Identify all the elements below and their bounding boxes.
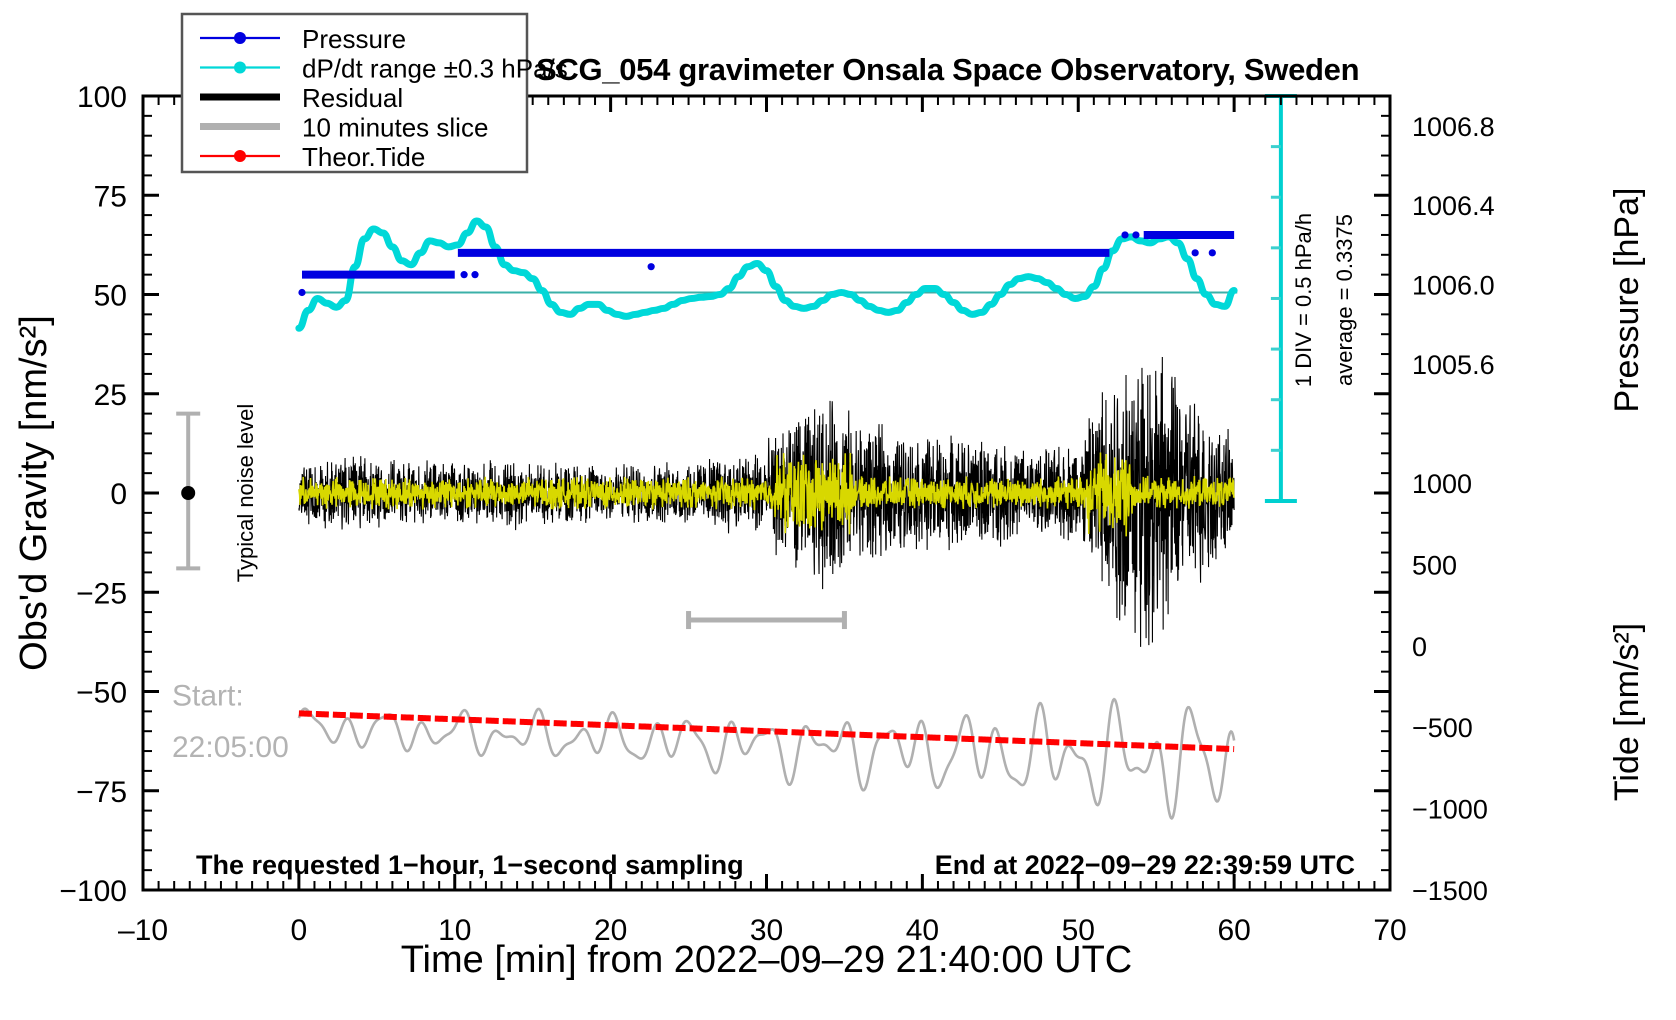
- pressure-point-4: [724, 249, 731, 256]
- y-axis-title: Obs'd Gravity [nm/s²]: [13, 315, 55, 671]
- tide-tick-label: −1000: [1412, 795, 1488, 825]
- pressure-point-11: [908, 249, 915, 256]
- tide-tick-label: 0: [1412, 632, 1427, 662]
- tide-tick-label: 1000: [1412, 469, 1472, 499]
- y-tick-label: 75: [94, 180, 127, 213]
- noise-center-dot: [181, 486, 195, 500]
- y-tick-label: −75: [76, 776, 127, 809]
- pressure-tick-label: 1006.0: [1412, 271, 1495, 301]
- legend-label-1: dP/dt range ±0.3 hPa/s: [302, 54, 568, 84]
- x-tick-label: 60: [1217, 914, 1250, 947]
- y-tick-label: −25: [76, 577, 127, 610]
- legend-label-3: 10 minutes slice: [302, 113, 488, 143]
- pressure-tick-label: 1006.8: [1412, 112, 1495, 142]
- legend-label-2: Residual: [302, 83, 403, 113]
- end-note: End at 2022−09−29 22:39:59 UTC: [935, 850, 1355, 880]
- pressure-point-8: [828, 249, 835, 256]
- x-tick-label: 0: [291, 914, 308, 947]
- noise-level-label: Typical noise level: [233, 404, 258, 583]
- pressure-point-12: [928, 249, 935, 256]
- pressure-point-2: [471, 271, 478, 278]
- pressure-tick-label: 1006.4: [1412, 191, 1495, 221]
- y-tick-label: 50: [94, 280, 127, 313]
- average-note: average = 0.3375: [1332, 214, 1357, 386]
- pressure-axis-title: Pressure [hPa]: [1608, 188, 1646, 413]
- y-tick-label: 25: [94, 379, 127, 412]
- pressure-point-5: [752, 249, 759, 256]
- y-tick-label: 0: [110, 478, 127, 511]
- x-tick-label: 70: [1373, 914, 1406, 947]
- pressure-point-18: [1132, 231, 1139, 238]
- legend-marker-0: [234, 32, 246, 44]
- y-tick-label: −50: [76, 677, 127, 710]
- pressure-point-19: [1192, 249, 1199, 256]
- pressure-point-10: [872, 249, 879, 256]
- tide-axis-title: Tide [nm/s²]: [1608, 623, 1646, 801]
- legend-label-4: Theor.Tide: [302, 142, 425, 172]
- pressure-point-0: [298, 289, 305, 296]
- div-note: 1 DIV = 0.5 hPa/h: [1291, 213, 1316, 387]
- pressure-point-3: [648, 263, 655, 270]
- pressure-point-13: [947, 249, 954, 256]
- pressure-point-9: [850, 249, 857, 256]
- legend-label-0: Pressure: [302, 24, 406, 54]
- start-label: Start:: [172, 679, 244, 712]
- pressure-point-20: [1209, 249, 1216, 256]
- start-time-value: 22:05:00: [172, 731, 289, 764]
- gravimeter-time-series-chart: ‒10010203040506070−100−75−50−25025507510…: [0, 0, 1676, 1020]
- pressure-point-15: [990, 249, 997, 256]
- pressure-point-1: [461, 271, 468, 278]
- tide-tick-label: −1500: [1412, 876, 1488, 906]
- pressure-point-16: [1019, 249, 1026, 256]
- pressure-tick-label: 1005.6: [1412, 350, 1495, 380]
- pressure-point-7: [810, 249, 817, 256]
- legend: PressuredP/dt range ±0.3 hPa/sResidual10…: [182, 14, 568, 172]
- tide-tick-label: 500: [1412, 550, 1457, 580]
- pressure-point-17: [1121, 231, 1128, 238]
- legend-marker-4: [234, 150, 246, 162]
- pressure-point-14: [973, 249, 980, 256]
- x-tick-label: ‒10: [118, 914, 168, 947]
- chart-title: SCG_054 gravimeter Onsala Space Observat…: [536, 52, 1359, 87]
- x-axis-title: Time [min] from 2022‒09‒29 21:40:00 UTC: [401, 939, 1133, 981]
- y-tick-label: 100: [77, 81, 127, 114]
- tide-tick-label: −500: [1412, 713, 1473, 743]
- legend-marker-1: [234, 62, 246, 74]
- chart-canvas: ‒10010203040506070−100−75−50−25025507510…: [0, 0, 1676, 1020]
- y-tick-label: −100: [59, 875, 127, 908]
- pressure-point-6: [778, 249, 785, 256]
- sampling-note: The requested 1−hour, 1−second sampling: [196, 850, 744, 880]
